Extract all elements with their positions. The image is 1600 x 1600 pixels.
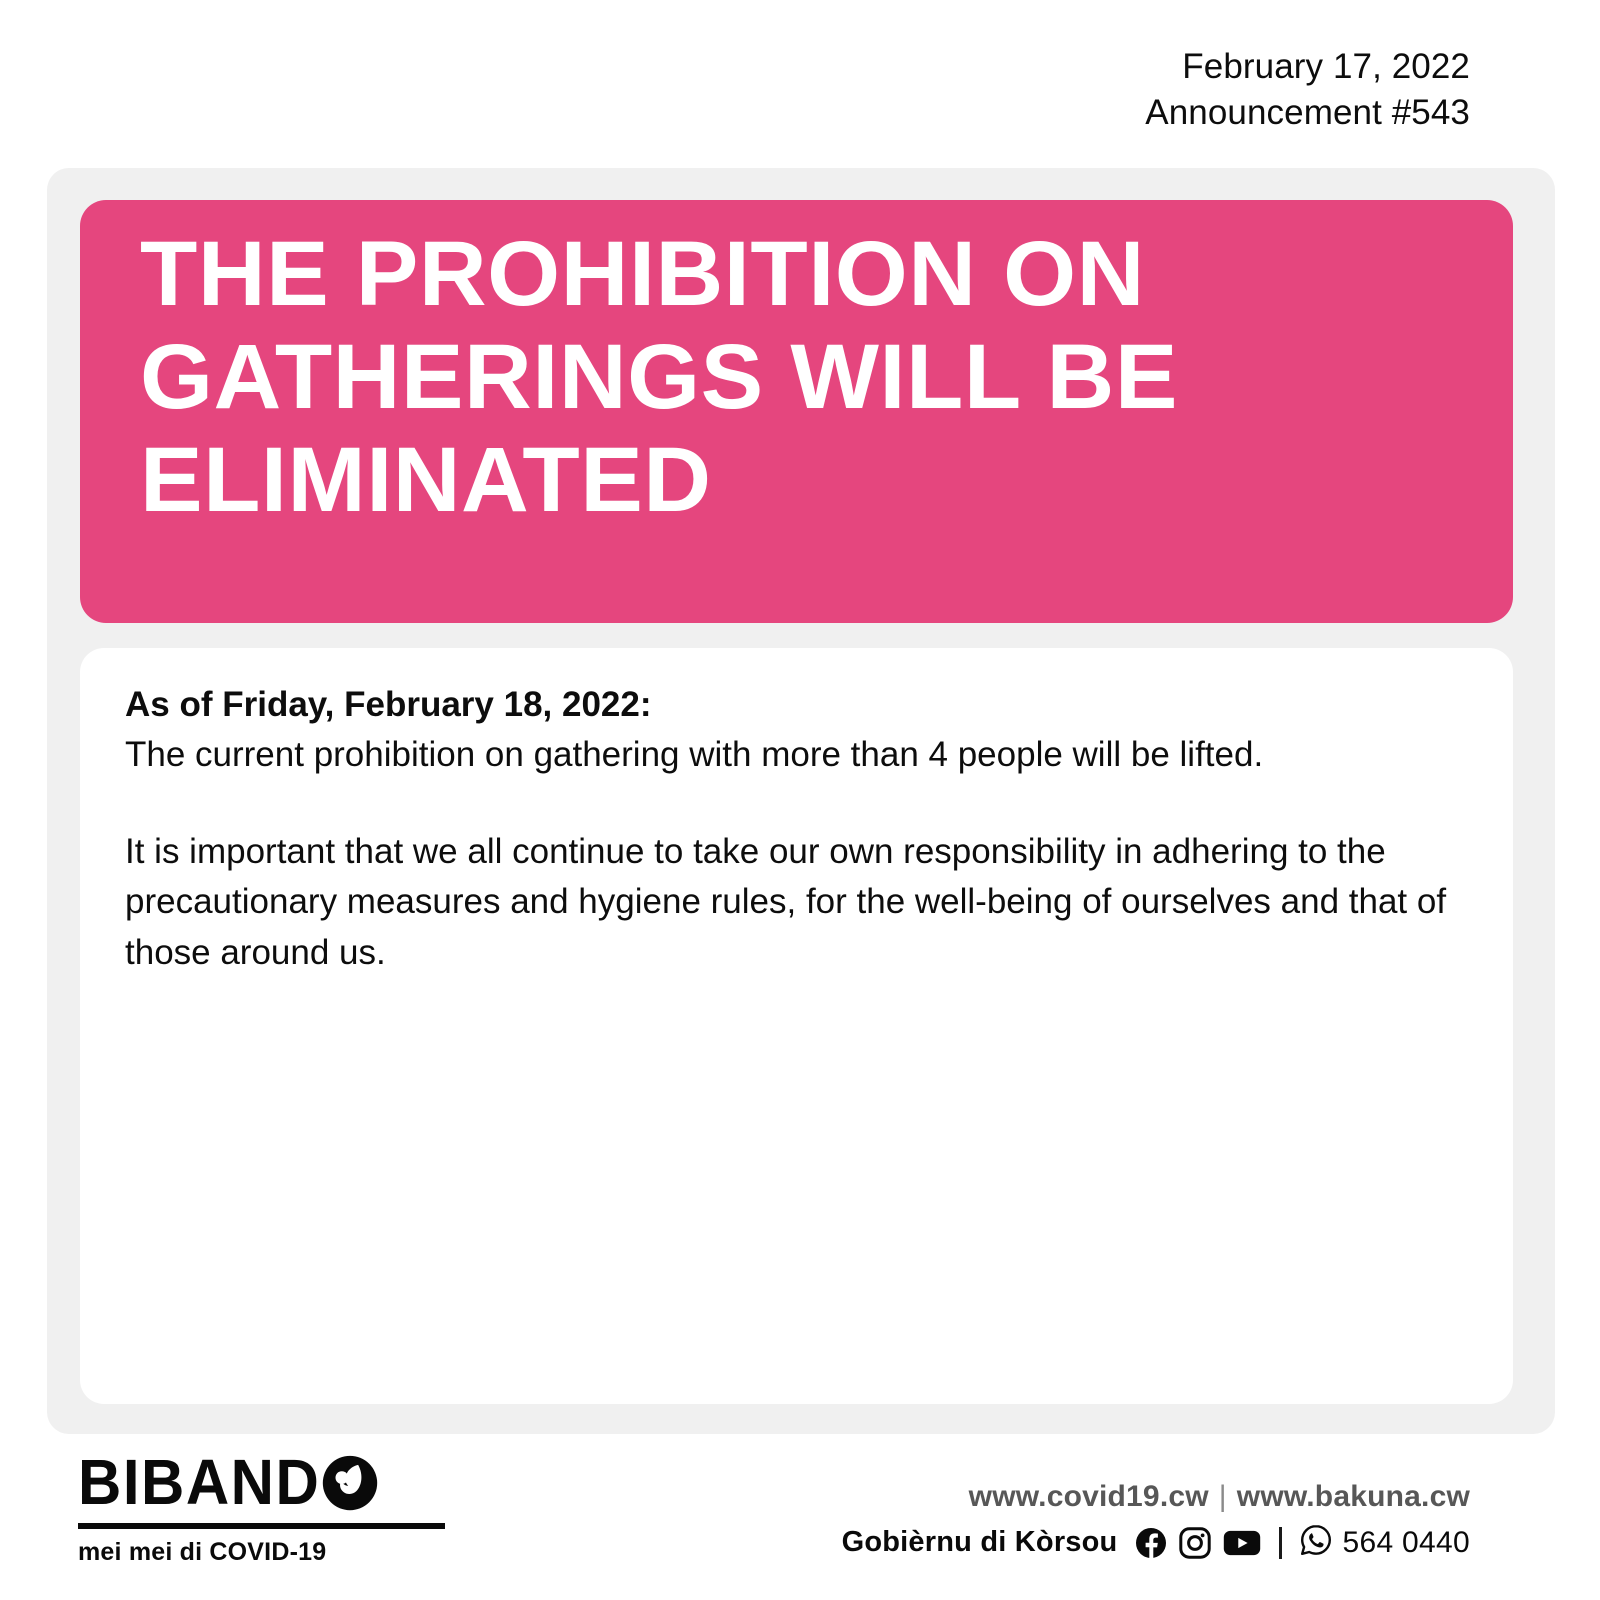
bibando-swirl-icon <box>321 1454 379 1512</box>
announcement-header: February 17, 2022 Announcement #543 <box>1145 44 1470 135</box>
link-covid19[interactable]: www.covid19.cw <box>969 1480 1209 1513</box>
logo-tagline: mei mei di COVID-19 <box>78 1538 448 1567</box>
footer-gov-row: Gobièrnu di Kòrsou <box>842 1524 1470 1561</box>
whatsapp-contact[interactable]: 564 0440 <box>1300 1524 1470 1561</box>
social-icon-group <box>1135 1527 1261 1559</box>
body-lead-line: As of Friday, February 18, 2022: <box>125 685 652 724</box>
body-lead-detail: The current prohibition on gathering wit… <box>125 735 1263 774</box>
logo-divider <box>78 1523 445 1529</box>
header-announcement-number: Announcement #543 <box>1145 90 1470 136</box>
link-bakuna[interactable]: www.bakuna.cw <box>1237 1480 1470 1513</box>
whatsapp-number: 564 0440 <box>1342 1526 1470 1560</box>
links-separator: | <box>1209 1480 1237 1513</box>
title-banner: THE PROHIBITION ON GATHERINGS WILL BE EL… <box>80 200 1513 623</box>
page-title: THE PROHIBITION ON GATHERINGS WILL BE EL… <box>140 223 1513 532</box>
body-paragraph-1: As of Friday, February 18, 2022: The cur… <box>125 680 1465 781</box>
footer-divider <box>1279 1527 1282 1559</box>
announcement-card: THE PROHIBITION ON GATHERINGS WILL BE EL… <box>47 168 1555 1434</box>
facebook-icon[interactable] <box>1135 1527 1167 1559</box>
whatsapp-icon <box>1300 1524 1332 1561</box>
body-content: As of Friday, February 18, 2022: The cur… <box>125 680 1483 978</box>
youtube-icon[interactable] <box>1223 1529 1261 1557</box>
footer-contact-block: www.covid19.cw|www.bakuna.cw Gobièrnu di… <box>842 1480 1470 1561</box>
bibando-logo: BIBAND mei mei di COVID-19 <box>78 1452 448 1567</box>
logo-wordmark-row: BIBAND <box>78 1452 448 1514</box>
header-date: February 17, 2022 <box>1145 44 1470 90</box>
footer-links: www.covid19.cw|www.bakuna.cw <box>842 1480 1470 1514</box>
page-footer: BIBAND mei mei di COVID-19 www.covid19.c… <box>0 1434 1600 1600</box>
instagram-icon[interactable] <box>1179 1527 1211 1559</box>
body-card: As of Friday, February 18, 2022: The cur… <box>80 648 1513 1404</box>
logo-wordmark-text: BIBAND <box>78 1451 320 1515</box>
body-paragraph-2: It is important that we all continue to … <box>125 827 1465 978</box>
government-name: Gobièrnu di Kòrsou <box>842 1526 1118 1559</box>
